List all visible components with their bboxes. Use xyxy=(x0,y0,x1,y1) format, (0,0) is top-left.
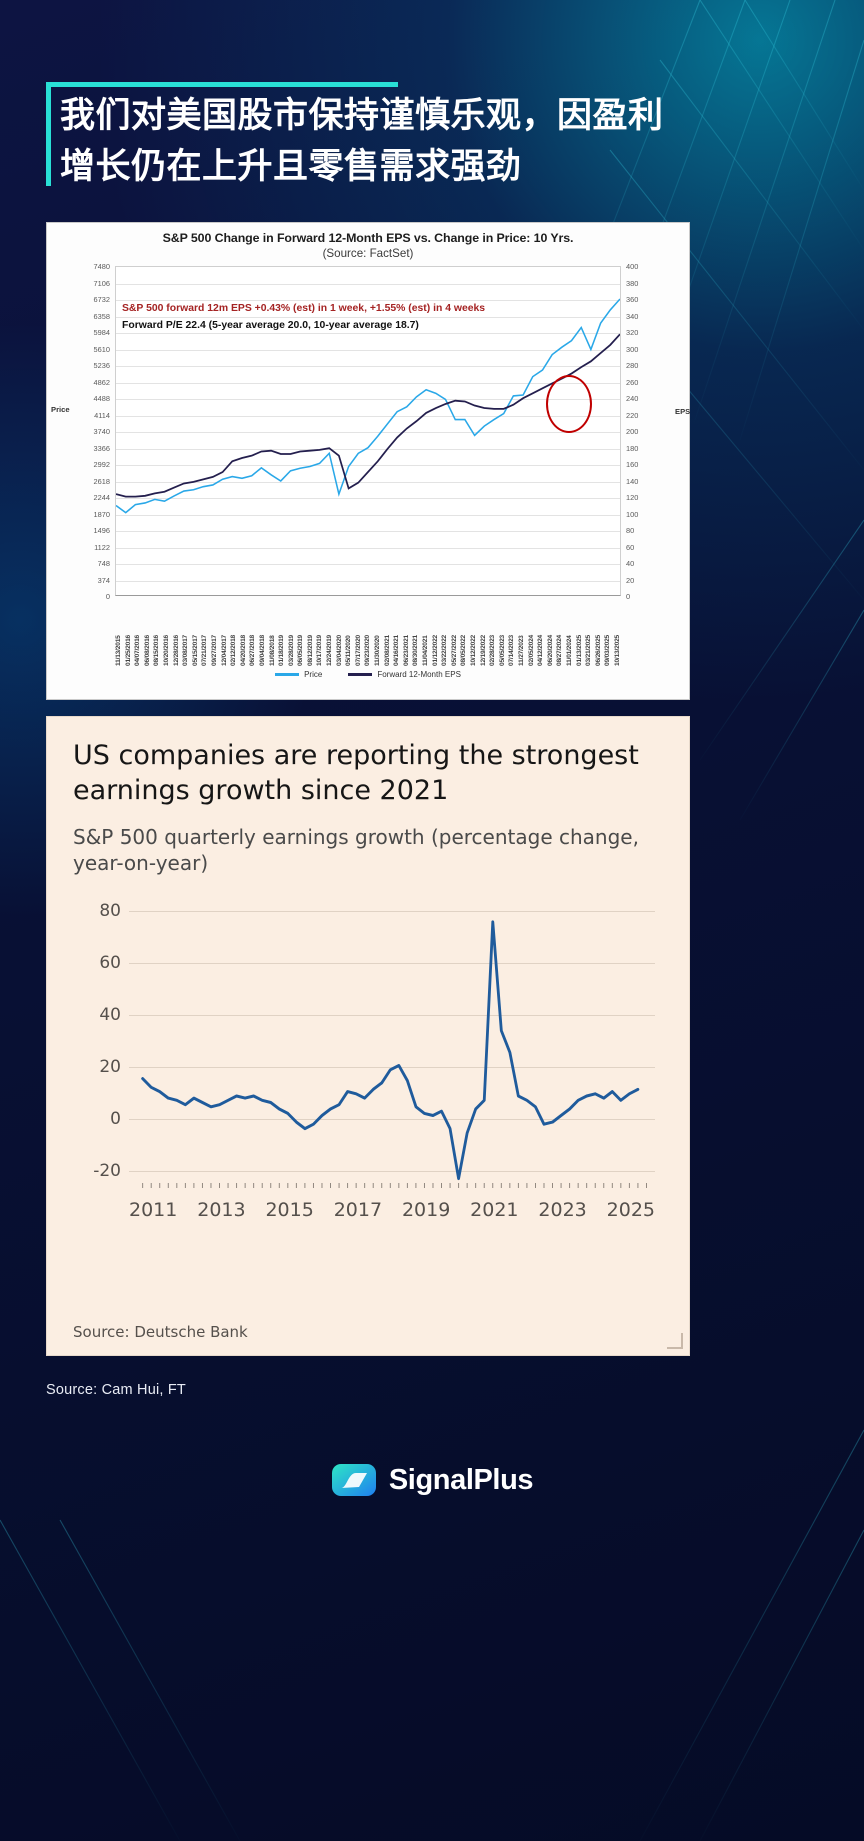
xtick: 05/27/2022 xyxy=(451,600,458,666)
series-forward-eps-line xyxy=(116,334,620,496)
chart2-plot: 80 60 40 20 0 -20 xyxy=(73,911,663,1241)
xtick: 08/27/2024 xyxy=(556,600,563,666)
y2tick: 240 xyxy=(626,394,638,403)
chart1-annotation-red: S&P 500 forward 12m EPS +0.43% (est) in … xyxy=(122,303,485,314)
chart1-legend: Price Forward 12-Month EPS xyxy=(57,670,679,679)
xtick: 12/28/2016 xyxy=(173,600,180,666)
ytick: 2992 xyxy=(94,460,110,469)
y2tick: 0 xyxy=(626,592,630,601)
xtick: 03/21/2025 xyxy=(585,600,592,666)
xtick: 11/13/2015 xyxy=(115,600,122,666)
ytick: 60 xyxy=(99,953,121,973)
y2tick: 120 xyxy=(626,493,638,502)
chart1-left-axis: 7480 7106 6732 6358 5984 5610 5236 4862 … xyxy=(57,266,113,596)
chart1-plot: 7480 7106 6732 6358 5984 5610 5236 4862 … xyxy=(57,266,679,614)
ytick: 7106 xyxy=(94,279,110,288)
legend-item-price: Price xyxy=(275,670,322,679)
ytick: 4862 xyxy=(94,378,110,387)
xtick: 10/17/2019 xyxy=(316,600,323,666)
xtick: 08/15/2016 xyxy=(153,600,160,666)
ytick: 40 xyxy=(99,1005,121,1025)
xtick: 01/13/2025 xyxy=(576,600,583,666)
xtick: 2011 xyxy=(129,1199,177,1221)
legend-swatch-price xyxy=(275,673,299,676)
series-earnings-growth-line xyxy=(143,922,638,1179)
xtick: 06/27/2018 xyxy=(249,600,256,666)
brand-logo: SignalPlus xyxy=(0,1460,864,1500)
series-price-line xyxy=(116,299,620,513)
ytick: 5236 xyxy=(94,361,110,370)
xtick: 10/12/2022 xyxy=(470,600,477,666)
xtick: 11/08/2018 xyxy=(269,600,276,666)
chart-card-factset: S&P 500 Change in Forward 12-Month EPS v… xyxy=(46,222,690,700)
signalplus-logo-icon xyxy=(331,1460,377,1500)
y2tick: 100 xyxy=(626,510,638,519)
xtick: 05/15/2017 xyxy=(192,600,199,666)
y2tick: 280 xyxy=(626,361,638,370)
ytick: 4488 xyxy=(94,394,110,403)
xtick: 09/04/2018 xyxy=(259,600,266,666)
chart1-x-axis-labels: 11/13/201501/25/201604/07/201606/08/2016… xyxy=(115,600,621,666)
xtick: 05/11/2020 xyxy=(345,600,352,666)
chart2-x-axis-labels: 2011 2013 2015 2017 2019 2021 2023 2025 xyxy=(129,1199,655,1221)
xtick: 07/14/2023 xyxy=(508,600,515,666)
headline-accent-left-bar xyxy=(46,82,51,186)
xtick: 2021 xyxy=(470,1199,518,1221)
y2tick: 60 xyxy=(626,543,634,552)
ytick: 1122 xyxy=(94,543,110,552)
xtick: 05/05/2023 xyxy=(499,600,506,666)
xtick: 11/01/2024 xyxy=(566,600,573,666)
chart1-right-axis-label: EPS xyxy=(675,406,683,417)
y2tick: 320 xyxy=(626,328,638,337)
y2tick: 200 xyxy=(626,427,638,436)
ytick: -20 xyxy=(93,1161,121,1181)
xtick: 2015 xyxy=(265,1199,313,1221)
xtick: 03/22/2022 xyxy=(441,600,448,666)
xtick: 02/28/2023 xyxy=(489,600,496,666)
chart-card-deutsche-bank: US companies are reporting the strongest… xyxy=(46,716,690,1356)
xtick: 04/16/2021 xyxy=(393,600,400,666)
ytick: 1870 xyxy=(94,510,110,519)
chart2-corner-mark xyxy=(667,1333,683,1349)
y2tick: 380 xyxy=(626,279,638,288)
chart1-right-axis: 400 380 360 340 320 300 280 260 240 220 … xyxy=(623,266,679,596)
chart2-series-svg xyxy=(129,911,655,1183)
ytick: 6358 xyxy=(94,312,110,321)
ytick: 6732 xyxy=(94,295,110,304)
xtick: 06/20/2024 xyxy=(547,600,554,666)
y2tick: 180 xyxy=(626,444,638,453)
brand-name: SignalPlus xyxy=(389,1464,533,1497)
ytick: 0 xyxy=(106,592,110,601)
y2tick: 340 xyxy=(626,312,638,321)
legend-item-forward-eps: Forward 12-Month EPS xyxy=(348,670,461,679)
page-title: 我们对美国股市保持谨慎乐观，因盈利 增长仍在上升且零售需求强劲 xyxy=(46,87,706,193)
ytick: 4114 xyxy=(94,411,110,420)
headline-block: 我们对美国股市保持谨慎乐观，因盈利 增长仍在上升且零售需求强劲 xyxy=(46,82,706,193)
chart1-gridlines: S&P 500 forward 12m EPS +0.43% (est) in … xyxy=(115,266,621,596)
xtick: 2019 xyxy=(402,1199,450,1221)
xtick: 04/20/2018 xyxy=(240,600,247,666)
chart2-source: Source: Deutsche Bank xyxy=(73,1323,248,1341)
ytick: 3740 xyxy=(94,427,110,436)
ytick: 748 xyxy=(98,559,110,568)
xtick: 2013 xyxy=(197,1199,245,1221)
ytick: 5984 xyxy=(94,328,110,337)
ytick: 374 xyxy=(98,576,110,585)
xtick: 03/28/2019 xyxy=(288,600,295,666)
xtick: 07/17/2020 xyxy=(355,600,362,666)
footer-source: Source: Cam Hui, FT xyxy=(46,1382,186,1398)
y2tick: 80 xyxy=(626,526,634,535)
xtick: 09/23/2020 xyxy=(364,600,371,666)
xtick: 12/24/2019 xyxy=(326,600,333,666)
xtick: 04/12/2024 xyxy=(537,600,544,666)
xtick: 08/12/2019 xyxy=(307,600,314,666)
chart1-subtitle: (Source: FactSet) xyxy=(57,247,679,260)
ytick: 2244 xyxy=(94,493,110,502)
ytick: 7480 xyxy=(94,262,110,271)
ytick: 5610 xyxy=(94,345,110,354)
xtick: 01/25/2016 xyxy=(125,600,132,666)
chart2-gridlines xyxy=(129,911,655,1183)
chart1-left-axis-label: Price xyxy=(51,404,59,415)
chart1-title: S&P 500 Change in Forward 12-Month EPS v… xyxy=(57,231,679,245)
xtick: 04/07/2016 xyxy=(134,600,141,666)
xtick: 06/05/2019 xyxy=(297,600,304,666)
xtick: 01/12/2022 xyxy=(432,600,439,666)
xtick: 11/27/2023 xyxy=(518,600,525,666)
y2tick: 300 xyxy=(626,345,638,354)
legend-label-price: Price xyxy=(304,670,322,679)
y2tick: 220 xyxy=(626,411,638,420)
xtick: 09/27/2017 xyxy=(211,600,218,666)
xtick: 03/08/2017 xyxy=(182,600,189,666)
xtick: 02/12/2018 xyxy=(230,600,237,666)
ytick: 2618 xyxy=(94,477,110,486)
ytick: 3366 xyxy=(94,444,110,453)
chart2-y-axis: 80 60 40 20 0 -20 xyxy=(73,911,127,1183)
xtick: 2023 xyxy=(538,1199,586,1221)
xtick: 06/26/2025 xyxy=(595,600,602,666)
chart2-title: US companies are reporting the strongest… xyxy=(73,739,663,808)
xtick: 10/20/2016 xyxy=(163,600,170,666)
xtick: 08/30/2021 xyxy=(412,600,419,666)
xtick: 11/04/2021 xyxy=(422,600,429,666)
y2tick: 260 xyxy=(626,378,638,387)
y2tick: 400 xyxy=(626,262,638,271)
xtick: 10/13/2025 xyxy=(614,600,621,666)
xtick: 06/08/2016 xyxy=(144,600,151,666)
y2tick: 20 xyxy=(626,576,634,585)
xtick: 02/08/2021 xyxy=(384,600,391,666)
xtick: 03/04/2020 xyxy=(336,600,343,666)
xtick: 2025 xyxy=(607,1199,655,1221)
xtick: 07/21/2017 xyxy=(201,600,208,666)
y2tick: 160 xyxy=(626,460,638,469)
chart2-x-tick-marks xyxy=(129,1183,655,1191)
headline-line-1: 我们对美国股市保持谨慎乐观，因盈利 xyxy=(60,91,706,142)
y2tick: 140 xyxy=(626,477,638,486)
poster-root: 我们对美国股市保持谨慎乐观，因盈利 增长仍在上升且零售需求强劲 S&P 500 … xyxy=(0,0,864,1841)
ytick: 80 xyxy=(99,901,121,921)
xtick: 12/19/2022 xyxy=(480,600,487,666)
xtick: 11/30/2020 xyxy=(374,600,381,666)
xtick: 2017 xyxy=(334,1199,382,1221)
xtick: 02/05/2024 xyxy=(528,600,535,666)
ytick: 0 xyxy=(110,1109,121,1129)
xtick: 08/05/2022 xyxy=(460,600,467,666)
xtick: 09/03/2025 xyxy=(604,600,611,666)
ytick: 1496 xyxy=(94,526,110,535)
chart2-subtitle: S&P 500 quarterly earnings growth (perce… xyxy=(73,824,663,877)
chart1-highlight-circle xyxy=(546,375,592,433)
headline-line-2: 增长仍在上升且零售需求强劲 xyxy=(60,142,706,193)
chart1-series-svg xyxy=(116,267,620,595)
legend-swatch-forward-eps xyxy=(348,673,372,676)
chart1-annotation-black: Forward P/E 22.4 (5-year average 20.0, 1… xyxy=(122,320,419,331)
xtick: 06/23/2021 xyxy=(403,600,410,666)
xtick: 01/18/2019 xyxy=(278,600,285,666)
y2tick: 360 xyxy=(626,295,638,304)
xtick: 12/04/2017 xyxy=(221,600,228,666)
y2tick: 40 xyxy=(626,559,634,568)
legend-label-forward-eps: Forward 12-Month EPS xyxy=(377,670,461,679)
ytick: 20 xyxy=(99,1057,121,1077)
